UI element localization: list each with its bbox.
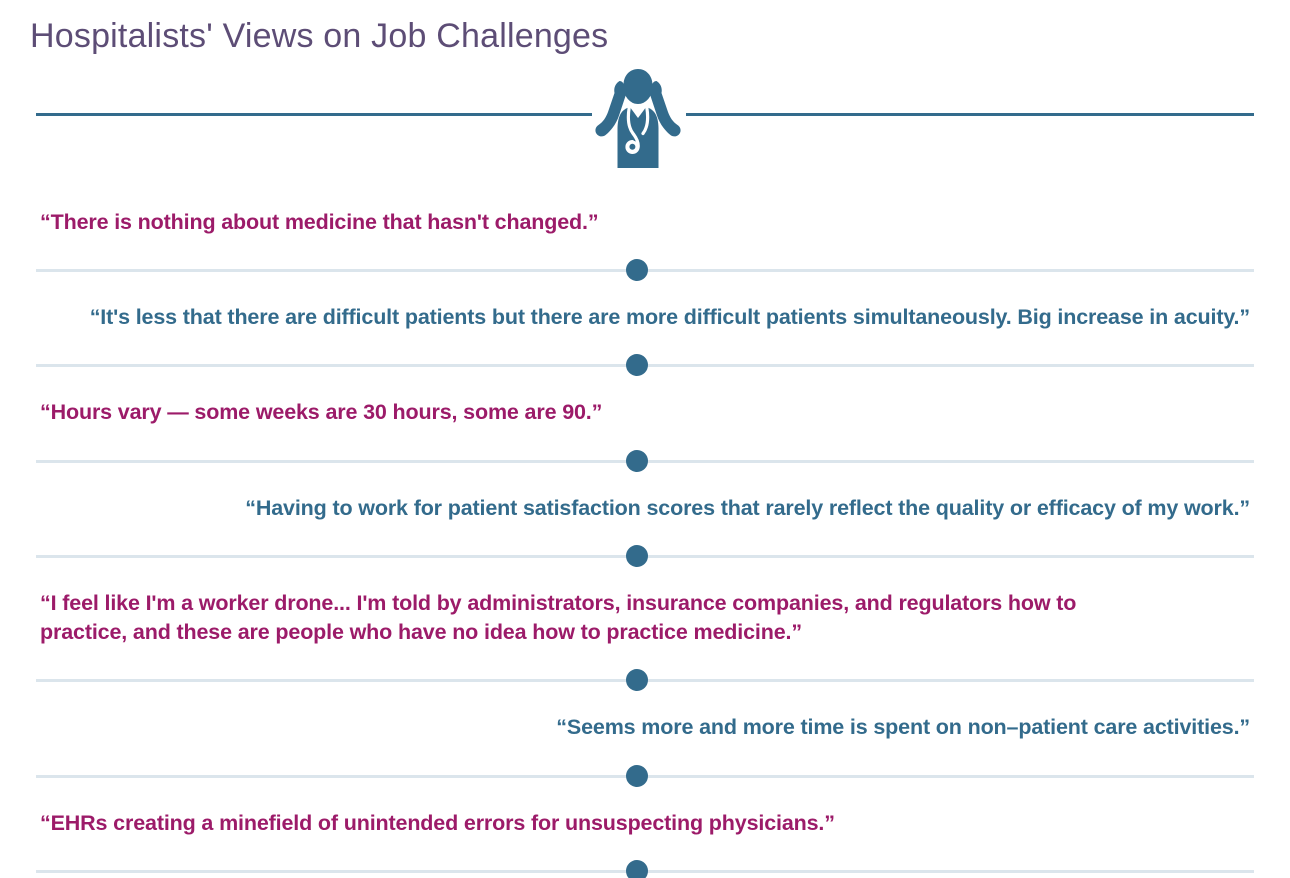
header: Hospitalists' Views on Job Challenges (0, 0, 1290, 180)
timeline-node (626, 545, 648, 567)
timeline-node (626, 259, 648, 281)
timeline-separator (0, 450, 1290, 472)
timeline-separator (0, 354, 1290, 376)
stressed-doctor-icon (586, 66, 690, 170)
quote-text: “I feel like I'm a worker drone... I'm t… (40, 589, 1250, 647)
timeline-node (626, 860, 648, 878)
quote-text: “Hours vary — some weeks are 30 hours, s… (40, 398, 1250, 427)
infographic-root: Hospitalists' Views on Job Challenges (0, 0, 1290, 878)
quote-row: “Hours vary — some weeks are 30 hours, s… (0, 398, 1290, 427)
quote-row: “It's less that there are difficult pati… (0, 303, 1290, 332)
quote-row: “I feel like I'm a worker drone... I'm t… (0, 589, 1290, 647)
timeline-separator (0, 545, 1290, 567)
quote-timeline: “There is nothing about medicine that ha… (0, 180, 1290, 878)
timeline-node (626, 765, 648, 787)
timeline-separator (0, 259, 1290, 281)
quote-text: “It's less that there are difficult pati… (40, 303, 1250, 332)
quote-row: “There is nothing about medicine that ha… (0, 208, 1290, 237)
timeline-separator (0, 860, 1290, 878)
quote-row: “Seems more and more time is spent on no… (0, 713, 1290, 742)
timeline-separator (0, 765, 1290, 787)
quote-text: “Seems more and more time is spent on no… (40, 713, 1250, 742)
timeline-separator (0, 669, 1290, 691)
timeline-node (626, 450, 648, 472)
header-rule-left (36, 113, 592, 116)
header-rule-right (686, 113, 1254, 116)
quote-row: “EHRs creating a minefield of unintended… (0, 809, 1290, 838)
quote-text: “EHRs creating a minefield of unintended… (40, 809, 1250, 838)
page-title: Hospitalists' Views on Job Challenges (30, 17, 608, 56)
timeline-node (626, 669, 648, 691)
quote-row: “Having to work for patient satisfaction… (0, 494, 1290, 523)
quote-text: “Having to work for patient satisfaction… (40, 494, 1250, 523)
timeline-node (626, 354, 648, 376)
quote-text: “There is nothing about medicine that ha… (40, 208, 1250, 237)
